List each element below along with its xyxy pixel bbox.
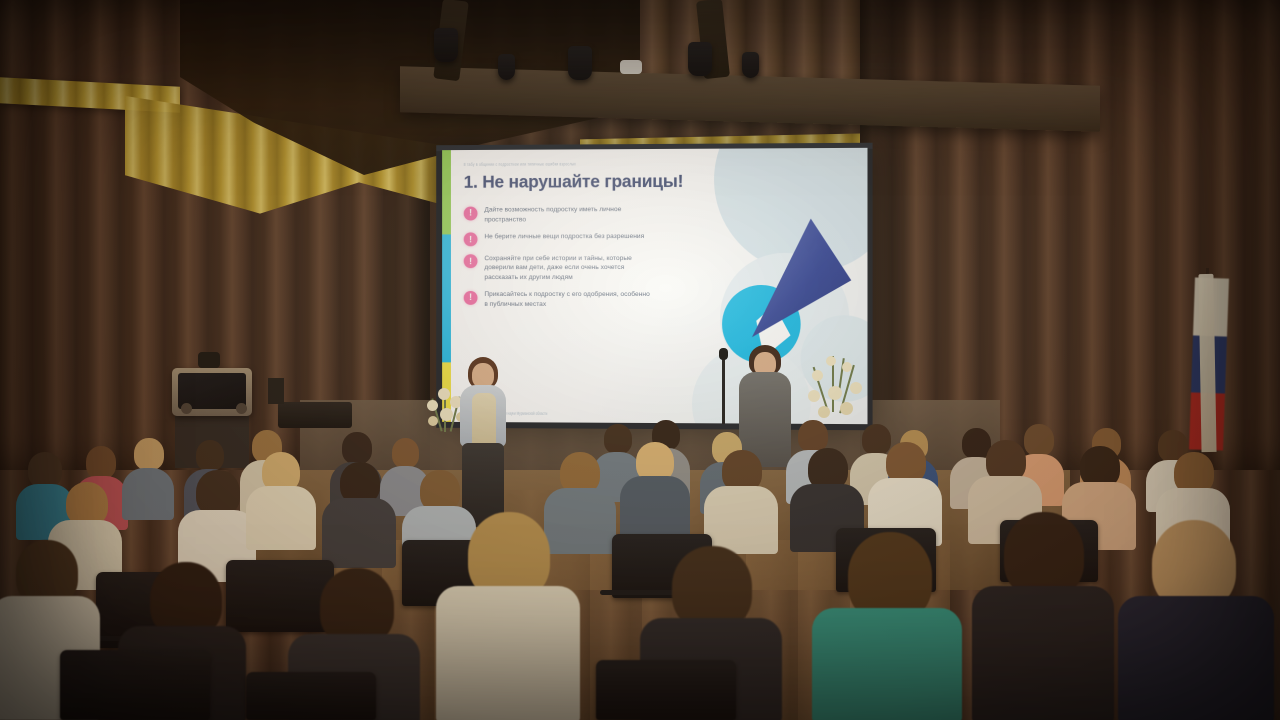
slide-title: 1. Не нарушайте границы! [464,170,858,193]
audience-body [972,586,1114,720]
flag-fold [1198,274,1216,452]
audience-body [704,486,778,554]
speaker-cone-icon [181,403,192,414]
audience-body [1118,596,1274,720]
stage-lamp-icon [742,52,759,78]
exclamation-icon: ! [464,291,478,305]
audience-body [122,468,174,520]
audience-head [1024,424,1054,456]
list-item-text: Дайте возможность подростку иметь личное… [484,205,651,225]
audience-head [28,452,62,488]
presenter-left [452,357,516,529]
stage-lamp-icon [498,54,515,80]
audience-head [862,424,891,455]
stripe-segment-green [442,150,451,234]
audience-body [322,498,396,568]
audio-amplifier [278,402,352,428]
slide-kicker: 8 табу в общении с подростком или типичн… [464,160,858,167]
audience-head [604,424,632,454]
slide-color-stripe [442,150,451,422]
audio-rack [268,378,284,404]
stage-lamp-icon [434,28,458,62]
audience-chair [60,650,210,720]
audience-head [134,438,164,470]
presentation-photo-scene: 8 табу в общении с подростком или типичн… [0,0,1280,720]
audience-head [86,446,116,479]
stripe-segment-cyan [442,234,451,362]
audience-body [246,486,316,550]
list-item-text: Прикасайтесь к подростку с его одобрения… [484,290,651,309]
audience-body [544,488,616,554]
stage-lamp-icon [568,46,592,80]
audience-chair [246,672,376,720]
audience-head [392,438,419,468]
exclamation-icon: ! [464,254,478,268]
audience-head [196,440,224,471]
audience-body [436,586,580,720]
exclamation-icon: ! [464,206,478,220]
exclamation-icon: ! [464,233,478,247]
audience-head [342,432,372,464]
microphone-stand [722,352,725,424]
stage-lamp-white-icon [620,60,642,74]
camera-icon [198,352,220,368]
audience-chair [596,660,736,720]
list-item-text: Сохраняйте при себе истории и тайны, кот… [484,254,651,283]
audience-body [812,608,962,720]
speaker-cone-icon [236,403,247,414]
list-item-text: Не берите личные вещи подростка без разр… [484,232,644,242]
presenter-right [735,345,797,465]
stage-lamp-icon [688,42,712,76]
microphone-icon [719,348,728,360]
audience-head [798,420,828,452]
audience-chair [226,560,334,632]
audience-body [620,476,690,542]
